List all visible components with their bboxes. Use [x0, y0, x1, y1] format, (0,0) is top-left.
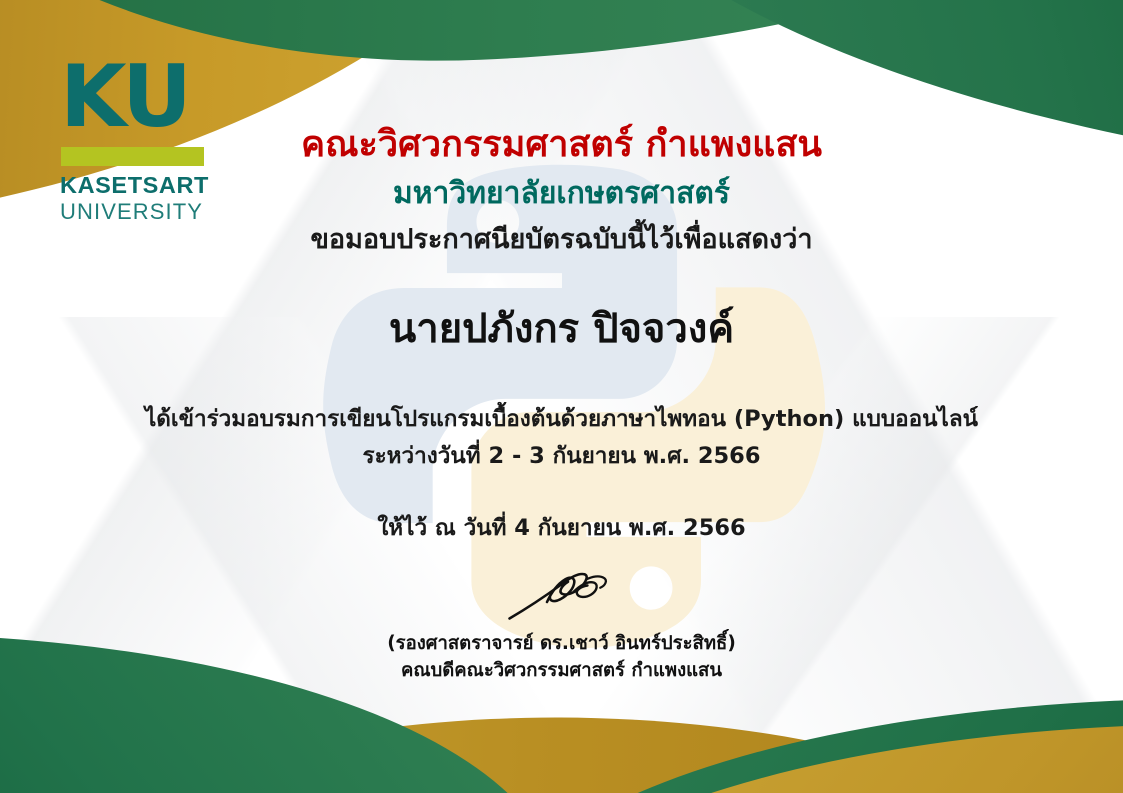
certificate-content: คณะวิศวกรรมศาสตร์ กำแพงแสน มหาวิทยาลัยเก…: [0, 0, 1123, 793]
signer-title: คณบดีคณะวิศวกรรมศาสตร์ กำแพงแสน: [401, 659, 722, 684]
issue-date: ให้ไว้ ณ วันที่ 4 กันยายน พ.ศ. 2566: [377, 514, 745, 542]
certificate-document: KU KASETSART UNIVERSITY คณะวิศวกรรมศาสตร…: [0, 0, 1123, 793]
recipient-name: นายปภังกร ปิจจวงค์: [389, 305, 734, 353]
course-date-range: ระหว่างวันที่ 2 - 3 กันยายน พ.ศ. 2566: [363, 442, 761, 470]
award-statement: ขอมอบประกาศนียบัตรฉบับนี้ไว้เพื่อแสดงว่า: [310, 224, 812, 256]
signer-name: (รองศาสตราจารย์ ดร.เชาว์ อินทร์ประสิทธิ์…: [387, 632, 736, 657]
university-title: มหาวิทยาลัยเกษตรศาสตร์: [393, 176, 730, 212]
course-description: ได้เข้าร่วมอบรมการเขียนโปรแกรมเบื้องต้นด…: [145, 405, 978, 433]
signature-block: (รองศาสตราจารย์ ดร.เชาว์ อินทร์ประสิทธิ์…: [387, 568, 736, 684]
handwritten-signature-icon: [502, 568, 622, 624]
faculty-title: คณะวิศวกรรมศาสตร์ กำแพงแสน: [301, 124, 822, 165]
